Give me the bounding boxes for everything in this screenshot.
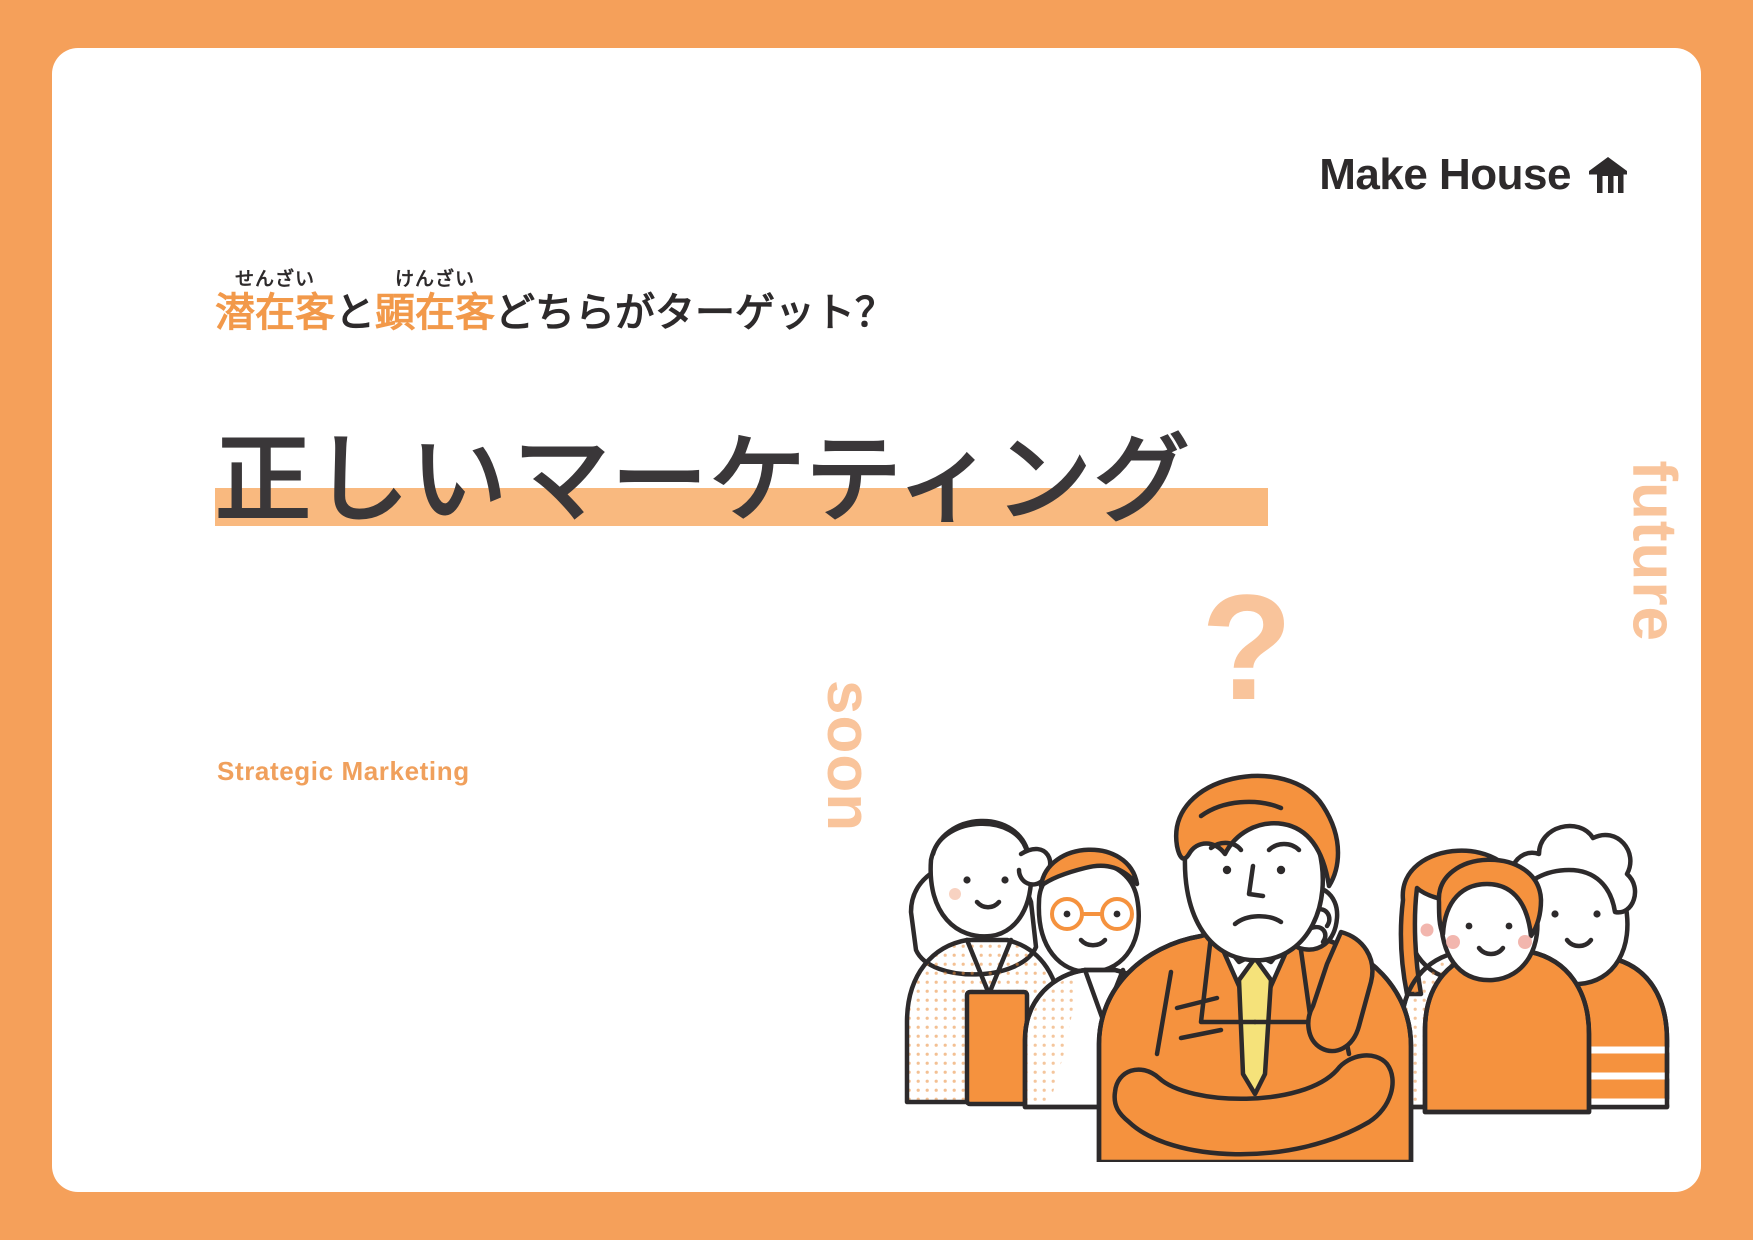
headline-line-1: 正しい	[215, 431, 509, 532]
logo-text: Make House	[1319, 153, 1571, 197]
eyebrow-tail: どちらがターゲット？	[495, 293, 895, 333]
people-thinking-illustration: soon future ?	[871, 602, 1671, 1162]
headline-text-1: 正しい	[215, 427, 509, 534]
kanji-1: 潜在客	[215, 293, 335, 333]
tagline: Strategic Marketing	[217, 756, 470, 787]
headline-line-2: マーケティング	[513, 431, 1191, 532]
slide-frame: Make House せんざい 潜在客 と けんざい 顕在客 どちらがターゲット…	[0, 0, 1753, 1240]
label-soon: soon	[817, 680, 879, 832]
headline-text-2: マーケティング	[513, 427, 1191, 534]
house-icon	[1587, 154, 1629, 196]
ruby-group-2: けんざい 顕在客	[375, 270, 495, 333]
question-mark-icon: ?	[1201, 572, 1293, 722]
kanji-2: 顕在客	[375, 293, 495, 333]
eyebrow-line: せんざい 潜在客 と けんざい 顕在客 どちらがターゲット？	[215, 270, 895, 333]
brand-logo[interactable]: Make House	[1319, 153, 1629, 197]
eyebrow-conjunction: と	[335, 293, 375, 333]
ruby-group-1: せんざい 潜在客	[215, 270, 335, 333]
page-title: 正しい マーケティング	[215, 403, 1192, 532]
furigana-2: けんざい	[395, 270, 475, 289]
furigana-1: せんざい	[235, 270, 315, 289]
slide-card: Make House せんざい 潜在客 と けんざい 顕在客 どちらがターゲット…	[52, 48, 1701, 1192]
label-future: future	[1623, 460, 1685, 642]
